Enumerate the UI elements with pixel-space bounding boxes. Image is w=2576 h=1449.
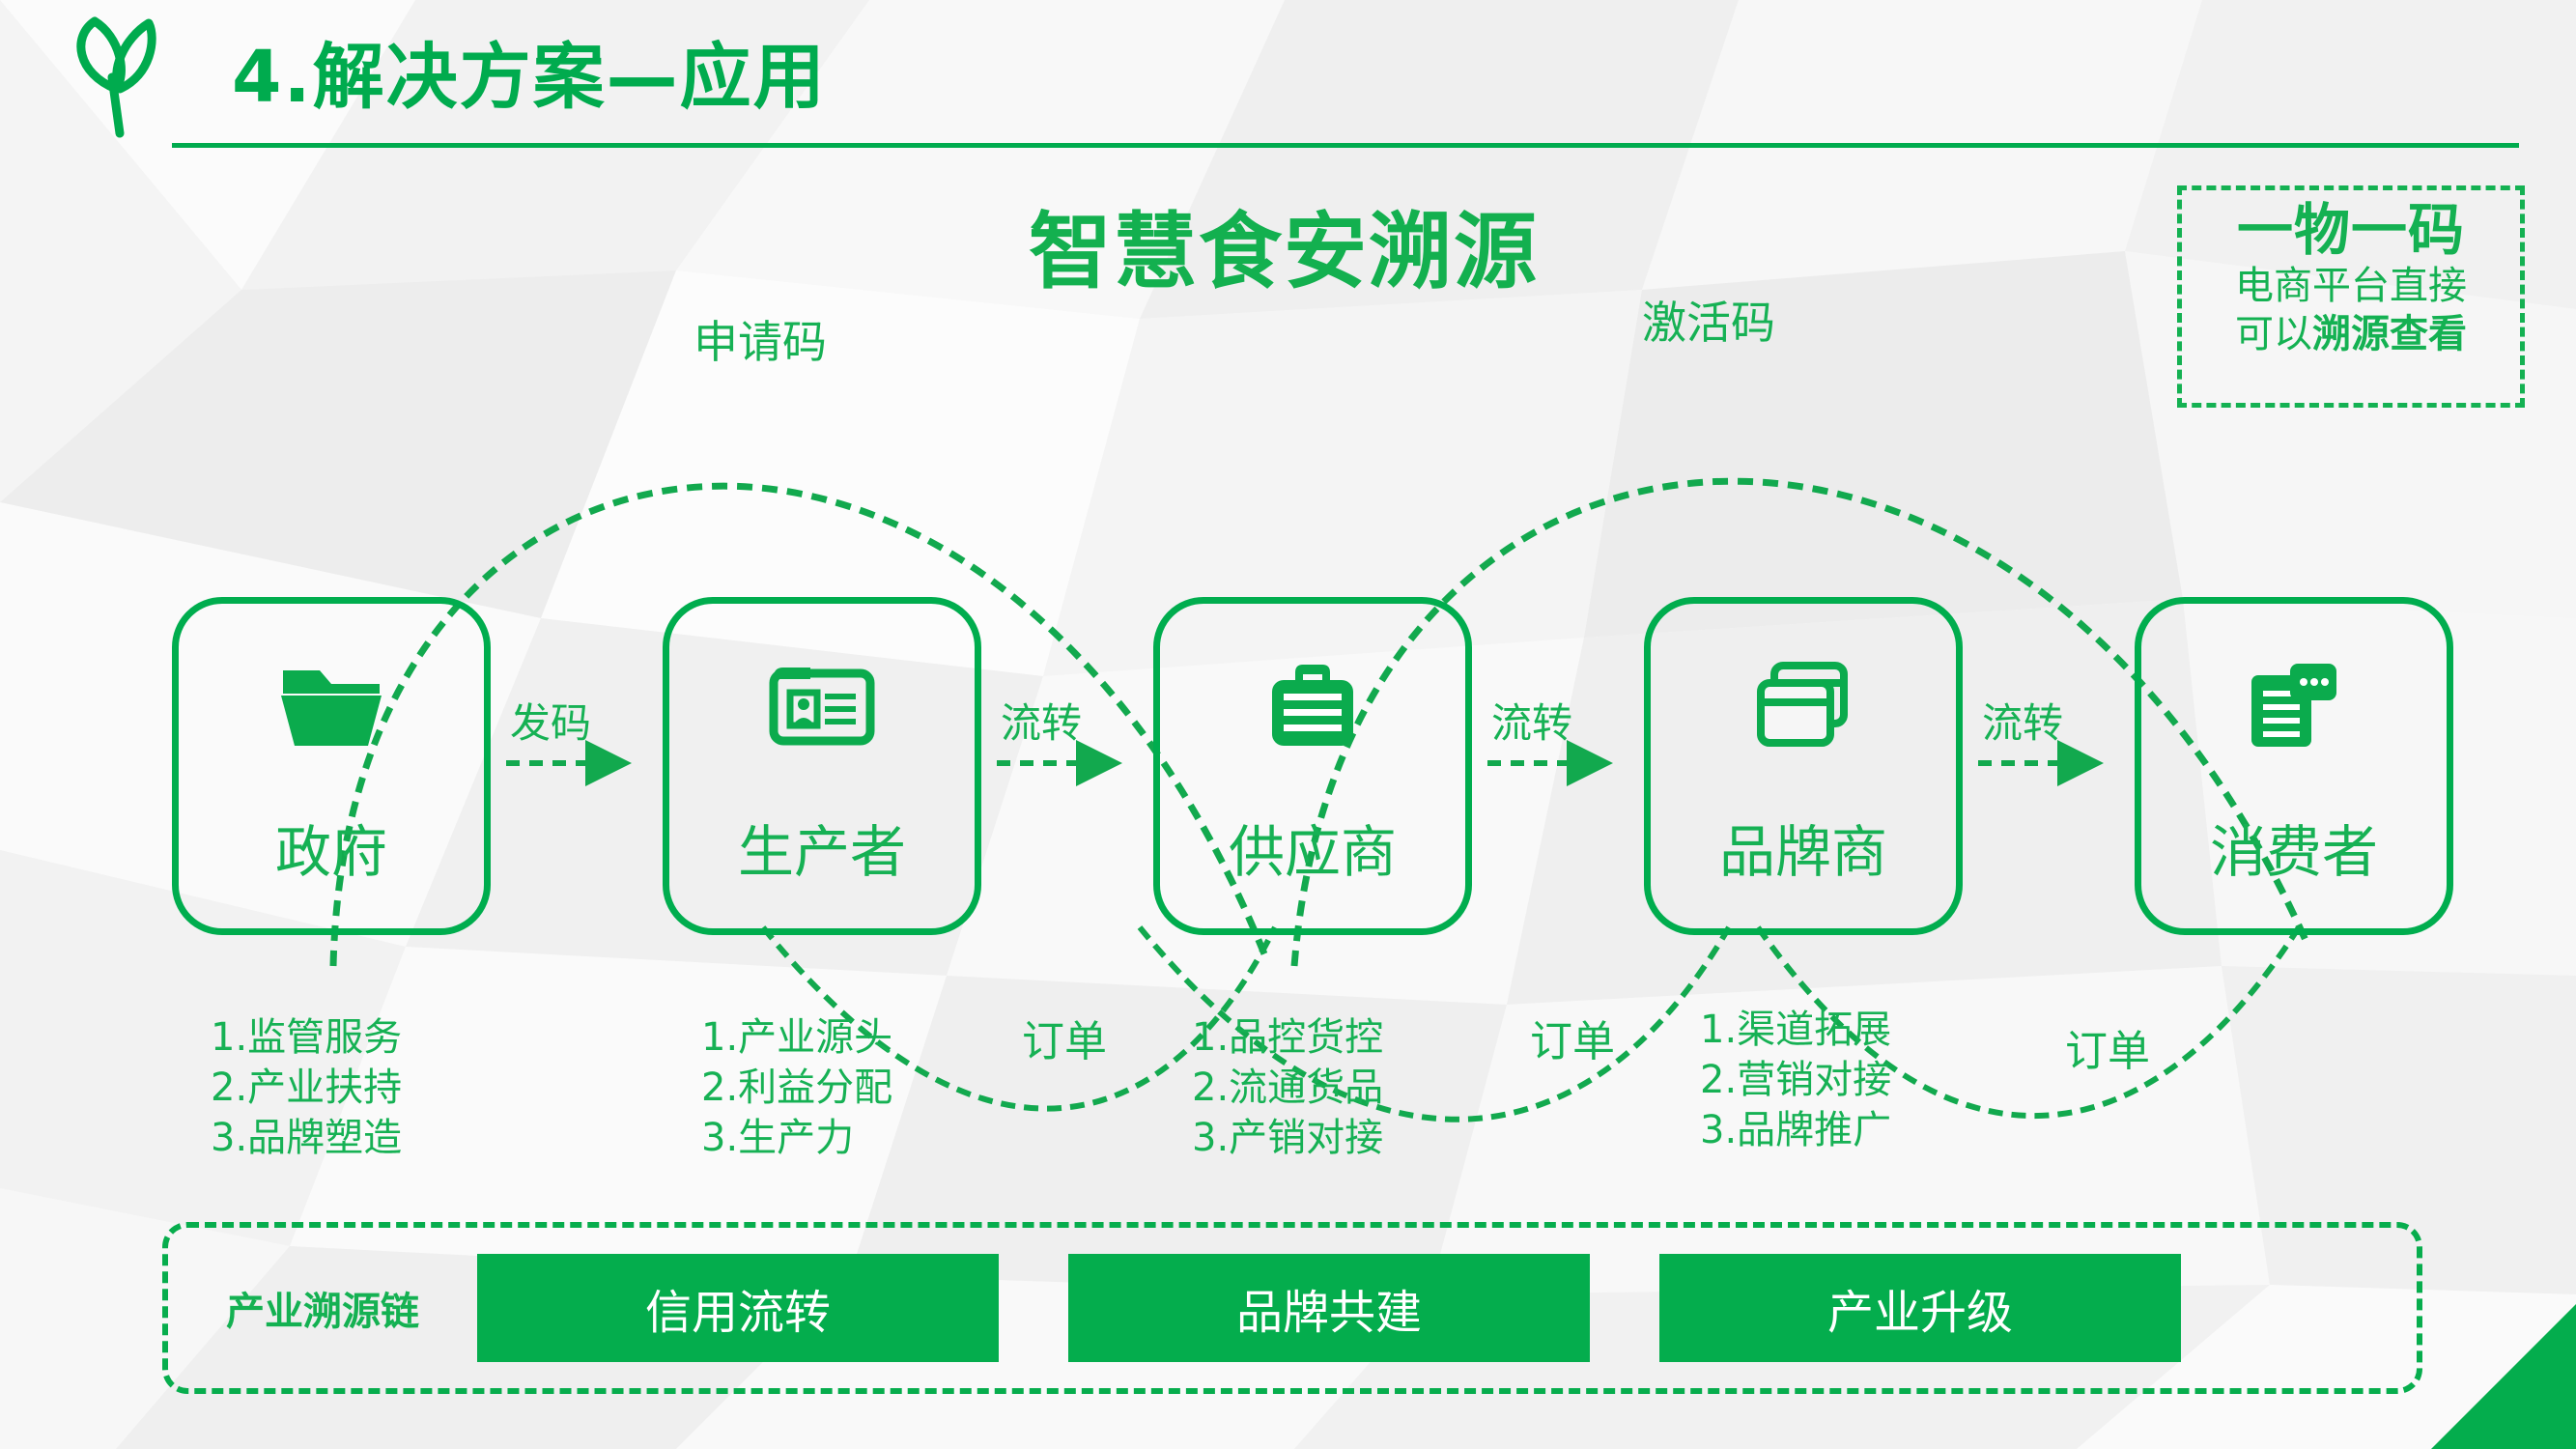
arc-label-apply-code: 申请码	[694, 307, 827, 371]
callout-line-2: 可以溯源查看	[2182, 310, 2520, 358]
briefcase-icon	[1160, 652, 1465, 758]
step-label-transfer-2: 流转	[1491, 691, 1572, 750]
corner-accent-triangle	[2431, 1304, 2576, 1449]
step-label-issue-code: 发码	[510, 691, 591, 750]
slide-header: 4.解决方案—应用	[0, 0, 2576, 155]
callout-line-2-emphasis: 溯源查看	[2312, 313, 2467, 355]
chain-button-industry-upgrade[interactable]: 产业升级	[1659, 1254, 2181, 1362]
list-item: 2.产业扶持	[211, 1063, 402, 1113]
stacked-windows-icon	[1651, 652, 1956, 758]
node-label-brand: 品牌商	[1651, 807, 1956, 888]
step-label-transfer-1: 流转	[1001, 691, 1082, 750]
list-item: 1.监管服务	[211, 1012, 402, 1063]
callout-line-1: 电商平台直接	[2182, 262, 2520, 310]
node-producer[interactable]: 生产者	[663, 597, 981, 935]
id-card-icon	[669, 652, 975, 758]
slide-canvas: 4.解决方案—应用 智慧食安溯源 一物一码 电商平台直接 可以溯源查看 申请码	[0, 0, 2576, 1449]
list-brand: 1.渠道拓展 2.营销对接 3.品牌推广	[1700, 1005, 1891, 1155]
page-title: 4.解决方案—应用	[232, 19, 827, 123]
order-label-3: 订单	[2065, 1016, 2150, 1078]
callout-line-2-prefix: 可以	[2235, 313, 2312, 355]
order-label-2: 订单	[1530, 1007, 1615, 1068]
chain-bar-label: 产业溯源链	[168, 1280, 477, 1336]
list-item: 2.利益分配	[701, 1063, 892, 1113]
list-item: 1.产业源头	[701, 1012, 892, 1063]
chain-button-brand-coop[interactable]: 品牌共建	[1068, 1254, 1590, 1362]
list-government: 1.监管服务 2.产业扶持 3.品牌塑造	[211, 1012, 402, 1163]
list-item: 1.品控货控	[1192, 1012, 1383, 1063]
arc-label-activate-code: 激活码	[1642, 288, 1775, 352]
node-government[interactable]: 政府	[172, 597, 491, 935]
callout-heading: 一物一码	[2182, 198, 2520, 262]
list-item: 3.品牌推广	[1700, 1105, 1891, 1155]
node-label-government: 政府	[179, 807, 484, 888]
title-underline	[172, 143, 2519, 148]
folder-icon	[179, 652, 484, 758]
industry-chain-bar: 产业溯源链 信用流转 品牌共建 产业升级	[162, 1222, 2422, 1394]
node-label-consumer: 消费者	[2141, 807, 2447, 888]
document-chat-icon	[2141, 652, 2447, 758]
leaf-icon	[60, 14, 185, 139]
list-item: 1.渠道拓展	[1700, 1005, 1891, 1055]
list-producer: 1.产业源头 2.利益分配 3.生产力	[701, 1012, 892, 1163]
list-item: 3.产销对接	[1192, 1113, 1383, 1163]
order-label-1: 订单	[1022, 1007, 1107, 1068]
list-item: 2.营销对接	[1700, 1055, 1891, 1105]
main-heading: 智慧食安溯源	[1029, 184, 1539, 304]
list-item: 3.生产力	[701, 1113, 892, 1163]
chain-button-credit-flow[interactable]: 信用流转	[477, 1254, 999, 1362]
node-consumer[interactable]: 消费者	[2135, 597, 2453, 935]
step-label-transfer-3: 流转	[1982, 691, 2063, 750]
node-label-producer: 生产者	[669, 807, 975, 888]
list-item: 3.品牌塑造	[211, 1113, 402, 1163]
list-item: 2.流通货品	[1192, 1063, 1383, 1113]
node-label-supplier: 供应商	[1160, 807, 1465, 888]
node-brand[interactable]: 品牌商	[1644, 597, 1963, 935]
list-supplier: 1.品控货控 2.流通货品 3.产销对接	[1192, 1012, 1383, 1163]
node-supplier[interactable]: 供应商	[1153, 597, 1472, 935]
callout-box: 一物一码 电商平台直接 可以溯源查看	[2177, 185, 2525, 408]
